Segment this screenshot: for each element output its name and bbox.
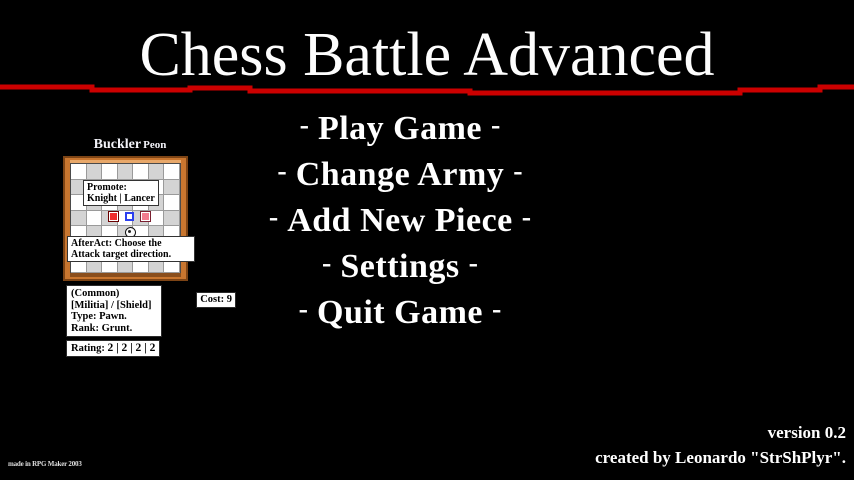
menu-dash-left-icon: - — [268, 156, 295, 188]
piece-name-main: Buckler — [94, 137, 141, 152]
engine-watermark: made in RPG Maker 2003 — [8, 460, 82, 468]
creator-label: created by Leonardo "StrShPlyr". — [595, 445, 846, 470]
board-cell — [102, 164, 118, 180]
menu-item-label: Quit Game — [317, 294, 483, 332]
menu-dash-left-icon: - — [313, 248, 340, 280]
menu-item-add-new-piece[interactable]: - Add New Piece - — [200, 198, 600, 244]
board-cell — [87, 164, 103, 180]
menu-item-label: Settings — [340, 248, 459, 286]
piece-info-wrap: (Common) [Militia] / [Shield] Type: Pawn… — [66, 285, 198, 357]
version-label: version 0.2 — [595, 420, 846, 445]
menu-dash-left-icon: - — [291, 110, 318, 142]
rating-label: Rating: — [71, 343, 105, 354]
board-cell — [149, 211, 165, 227]
attack-marker-icon — [109, 212, 118, 221]
board-cell — [118, 164, 134, 180]
afteract-tooltip: AfterAct: Choose the Attack target direc… — [67, 236, 195, 262]
menu-item-label: Change Army — [296, 156, 505, 194]
piece-rating-box: Rating: 2 | 2 | 2 | 2 — [66, 340, 160, 357]
afteract-line-2: Attack target direction. — [71, 249, 191, 260]
menu-dash-left-icon: - — [260, 202, 287, 234]
title-screen: Chess Battle Advanced - Play Game - - Ch… — [0, 0, 854, 480]
board-cell — [164, 164, 180, 180]
menu-item-label: Add New Piece — [287, 202, 513, 240]
menu-item-settings[interactable]: - Settings - — [200, 244, 600, 290]
piece-rank: Rank: Grunt. — [71, 323, 158, 335]
board-cell — [71, 164, 87, 180]
menu-dash-right-icon: - — [504, 156, 531, 188]
board-cell — [149, 164, 165, 180]
menu-dash-left-icon: - — [290, 294, 317, 326]
piece-name-sub: Peon — [143, 139, 166, 151]
piece-rarity: (Common) — [71, 288, 158, 300]
self-position-marker-icon — [125, 212, 134, 221]
menu-item-label: Play Game — [318, 110, 482, 148]
board-cell — [133, 164, 149, 180]
piece-cost-badge: Cost: 9 — [196, 292, 236, 308]
promote-options: Knight | Lancer — [87, 193, 155, 204]
menu-dash-right-icon: - — [460, 248, 487, 280]
board-cell — [71, 211, 87, 227]
menu-item-play-game[interactable]: - Play Game - — [200, 106, 600, 152]
main-menu: - Play Game - - Change Army - - Add New … — [200, 106, 600, 336]
menu-item-change-army[interactable]: - Change Army - — [200, 152, 600, 198]
menu-dash-right-icon: - — [513, 202, 540, 234]
board-cell — [164, 211, 180, 227]
board-cell — [164, 180, 180, 196]
page-title: Chess Battle Advanced — [0, 22, 854, 88]
piece-tags: [Militia] / [Shield] — [71, 300, 158, 312]
board-cell — [164, 195, 180, 211]
menu-dash-right-icon: - — [483, 294, 510, 326]
menu-item-quit-game[interactable]: - Quit Game - — [200, 290, 600, 336]
board-cell — [87, 211, 103, 227]
piece-type: Type: Pawn. — [71, 311, 158, 323]
menu-dash-right-icon: - — [482, 110, 509, 142]
credits: version 0.2 created by Leonardo "StrShPl… — [595, 420, 846, 470]
movement-board-frame: Promote: Knight | Lancer AfterAct: Choos… — [63, 156, 188, 281]
secondary-marker-icon — [141, 212, 150, 221]
title-underline-rule — [0, 84, 854, 98]
piece-name: BucklerPeon — [60, 136, 200, 153]
piece-preview-card: BucklerPeon — [60, 136, 200, 357]
piece-info-box: (Common) [Militia] / [Shield] Type: Pawn… — [66, 285, 162, 337]
promote-tooltip: Promote: Knight | Lancer — [83, 180, 159, 206]
afteract-line-1: AfterAct: Choose the — [71, 238, 191, 249]
promote-label: Promote: — [87, 182, 155, 193]
rating-values: 2 | 2 | 2 | 2 — [107, 342, 155, 354]
